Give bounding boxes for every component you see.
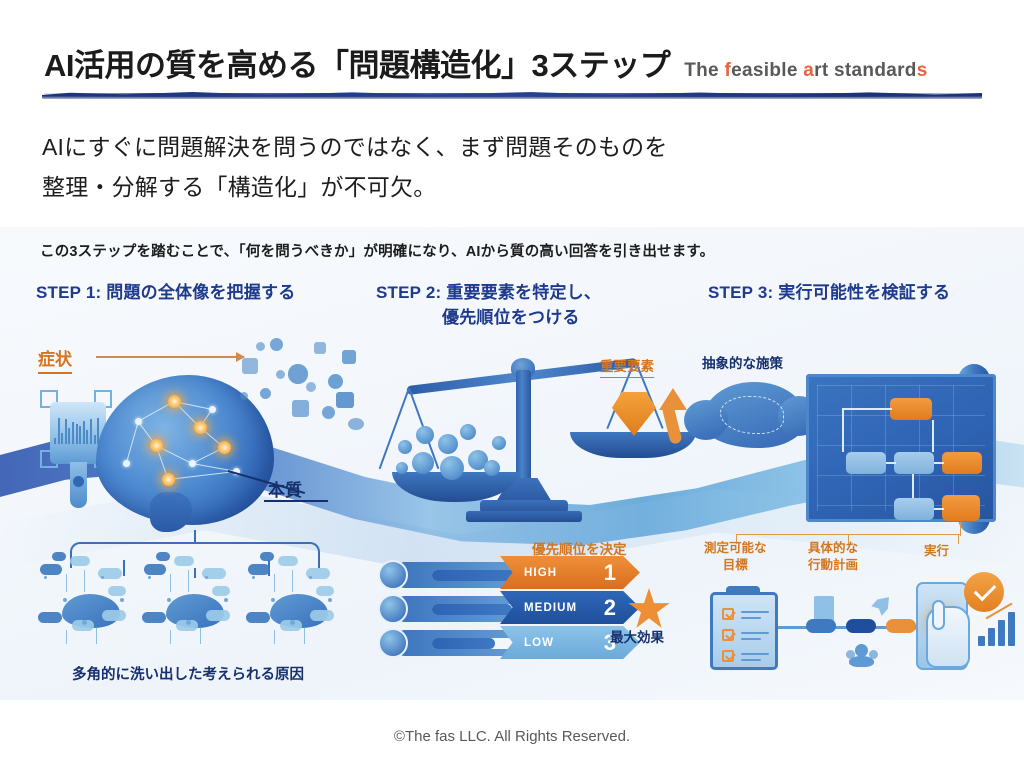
max-effect-label: 最大効果 [610, 626, 664, 646]
abstract-policy-label: 抽象的な施策 [702, 352, 783, 372]
flow-line-c [932, 420, 934, 452]
idea-icon-burst [236, 330, 364, 450]
lead-line-1: AIにすぐに問題解決を問うのではなく、まず問題そのものを [42, 127, 668, 167]
clipboard-icon [710, 592, 778, 670]
priority-chevron[interactable]: MEDIUM2 [500, 591, 640, 624]
plan-line-2: 行動計画 [808, 558, 858, 572]
key-factor-up-arrow-icon [660, 382, 686, 444]
causes-label: 多角的に洗い出した考えられる原因 [72, 663, 304, 684]
checkbox-icon [722, 629, 734, 641]
priority-rank: 1 [604, 560, 616, 586]
flow-node-orange-right [942, 452, 982, 474]
clipboard-line [741, 632, 769, 634]
mindmap-cluster-group [36, 552, 354, 664]
panel-note: この3ステップを踏むことで、「何を問うべきか」が明確になり、AIから質の高い回答… [40, 240, 714, 261]
signal-bars-icon [54, 418, 102, 444]
checkbox-icon [722, 608, 734, 620]
clipboard-line [741, 617, 761, 619]
people-icon [846, 644, 878, 666]
clipboard-line [741, 638, 761, 640]
step-1-title: STEP 1: 問題の全体像を把握する [36, 281, 295, 306]
priority-chevron[interactable]: HIGH1 [500, 556, 640, 589]
title-divider-line [44, 93, 980, 97]
bracket-stem-down [960, 522, 961, 536]
lead-paragraph: AIにすぐに問題解決を問うのではなく、まず問題そのものを 整理・分解する「構造化… [42, 127, 668, 208]
plan-line-1: 具体的な [808, 541, 858, 555]
lead-line-2: 整理・分解する「構造化」が不可欠。 [42, 167, 668, 207]
magnifier-knob-icon [73, 476, 84, 487]
flow-line-d [886, 462, 896, 464]
footer-copyright: ©The fas LLC. All Rights Reserved. [0, 728, 1024, 745]
slide-header: AI活用の質を高める「問題構造化」3ステップ The feasible art … [0, 40, 1024, 100]
money-bag-icon [378, 594, 408, 624]
clock-icon [378, 560, 408, 590]
flow-node-orange-check [942, 495, 980, 521]
step-2-title-line2: 優先順位をつける [376, 306, 601, 331]
clipboard-line [741, 611, 769, 613]
clipboard-line [741, 653, 769, 655]
action-plan-label: 具体的な 行動計画 [808, 540, 858, 574]
check-badge-icon [964, 572, 1004, 612]
flow-node-blue-2 [894, 452, 934, 474]
title-row: AI活用の質を高める「問題構造化」3ステップ The feasible art … [44, 40, 928, 85]
flow-node-blue-3 [894, 498, 934, 520]
flow-line-g [934, 508, 944, 510]
page-subtitle: The feasible art standards [684, 60, 927, 82]
minor-factors-icon-pile [396, 422, 514, 478]
flow-line-e [934, 462, 944, 464]
flow-chip-3 [886, 619, 916, 633]
flow-chip-1 [806, 619, 836, 633]
key-factor-label: 重要要素 [600, 355, 654, 378]
balance-base-lower [466, 511, 582, 522]
flow-node-orange-top [890, 398, 932, 420]
priority-level-label: HIGH [524, 567, 557, 579]
flow-line-a [842, 408, 892, 410]
step-2-title: STEP 2: 重要要素を特定し、 優先順位をつける [376, 281, 601, 330]
flow-chip-2 [846, 619, 876, 633]
step-2-title-line1: STEP 2: 重要要素を特定し、 [376, 283, 601, 302]
person-icon [378, 628, 408, 658]
symptom-label: 症状 [38, 345, 72, 374]
flow-line-b [842, 408, 844, 452]
checkbox-icon [722, 650, 734, 662]
priority-level-label: MEDIUM [524, 602, 577, 614]
page-title: AI活用の質を高める「問題構造化」3ステップ [44, 40, 670, 85]
measurable-goal-label: 測定可能な 目標 [704, 540, 767, 574]
flow-node-blue-1 [846, 452, 886, 474]
essence-label: 本質 [268, 476, 302, 501]
slide-root: AI活用の質を高める「問題構造化」3ステップ The feasible art … [0, 0, 1024, 768]
symptom-arrow-icon [96, 356, 244, 358]
priority-label: 優先順位を決定 [532, 538, 627, 558]
goal-line-1: 測定可能な [704, 541, 767, 555]
step-3-title: STEP 3: 実行可能性を検証する [708, 281, 950, 306]
flow-line-f [912, 474, 914, 498]
goal-line-2: 目標 [723, 558, 748, 572]
priority-rank: 2 [604, 595, 616, 621]
hand-finger-icon [932, 600, 945, 630]
growth-chart-icon [978, 608, 1020, 646]
execute-label: 実行 [924, 540, 949, 559]
clipboard-line [741, 659, 761, 661]
priority-level-label: LOW [524, 637, 554, 649]
bracket-tick-3 [958, 534, 959, 544]
